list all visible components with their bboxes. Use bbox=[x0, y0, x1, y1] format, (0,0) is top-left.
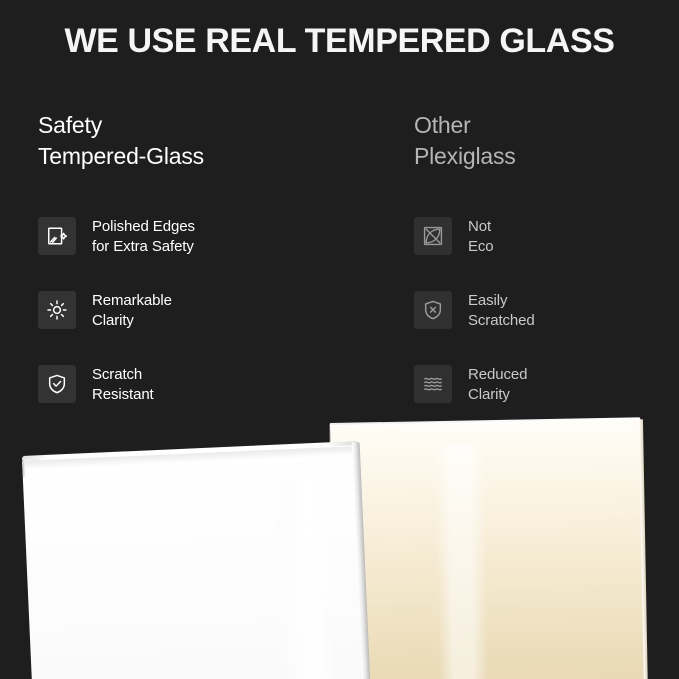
feature-label-line1: Scratch bbox=[92, 365, 154, 385]
feature-easily-scratched: Easily Scratched bbox=[414, 290, 679, 336]
column-heading-left: Safety Tempered-Glass bbox=[38, 110, 368, 172]
feature-label-line1: Not bbox=[468, 217, 494, 237]
polished-edges-icon bbox=[38, 217, 76, 255]
plexiglass-panel-top-edge bbox=[330, 417, 640, 426]
feature-remarkable-clarity: Remarkable Clarity bbox=[38, 290, 368, 336]
not-eco-crossed-leaf-icon bbox=[414, 217, 452, 255]
column-heading-left-line1: Safety bbox=[38, 110, 368, 141]
column-heading-right-line1: Other bbox=[414, 110, 679, 141]
feature-label-polished-edges: Polished Edges for Extra Safety bbox=[92, 216, 195, 257]
plexiglass-panel-highlight bbox=[434, 444, 489, 679]
feature-not-eco: Not Eco bbox=[414, 216, 679, 262]
product-comparison-graphic: WE USE REAL TEMPERED GLASS Safety Temper… bbox=[0, 0, 679, 679]
plexiglass-panel-right-edge bbox=[639, 419, 648, 679]
feature-label-line1: Reduced bbox=[468, 365, 527, 385]
page-title: WE USE REAL TEMPERED GLASS bbox=[0, 22, 679, 61]
tempered-glass-panel-corner bbox=[22, 458, 41, 477]
plexiglass-panel bbox=[330, 419, 645, 679]
feature-label-line2: Clarity bbox=[92, 311, 172, 331]
shield-x-icon bbox=[414, 291, 452, 329]
feature-label-not-eco: Not Eco bbox=[468, 216, 494, 257]
feature-label-easily-scratched: Easily Scratched bbox=[468, 290, 535, 331]
feature-label-line2: Eco bbox=[468, 237, 494, 257]
column-heading-right: Other Plexiglass bbox=[414, 110, 679, 172]
feature-polished-edges: Polished Edges for Extra Safety bbox=[38, 216, 368, 262]
feature-label-line1: Polished Edges bbox=[92, 217, 195, 237]
feature-label-line1: Remarkable bbox=[92, 291, 172, 311]
feature-label-remarkable-clarity: Remarkable Clarity bbox=[92, 290, 172, 331]
column-heading-left-line2: Tempered-Glass bbox=[38, 141, 368, 172]
feature-label-line1: Easily bbox=[468, 291, 535, 311]
panel-comparison-photo bbox=[0, 395, 679, 679]
column-plexiglass: Other Plexiglass Not Eco bbox=[414, 110, 679, 438]
clarity-sun-icon bbox=[38, 291, 76, 329]
column-tempered-glass: Safety Tempered-Glass Polished Edges for… bbox=[38, 110, 368, 438]
feature-label-line2: for Extra Safety bbox=[92, 237, 195, 257]
column-heading-right-line2: Plexiglass bbox=[414, 141, 679, 172]
feature-label-line2: Scratched bbox=[468, 311, 535, 331]
tempered-glass-panel bbox=[22, 444, 366, 679]
tempered-glass-panel-highlight bbox=[271, 479, 340, 679]
